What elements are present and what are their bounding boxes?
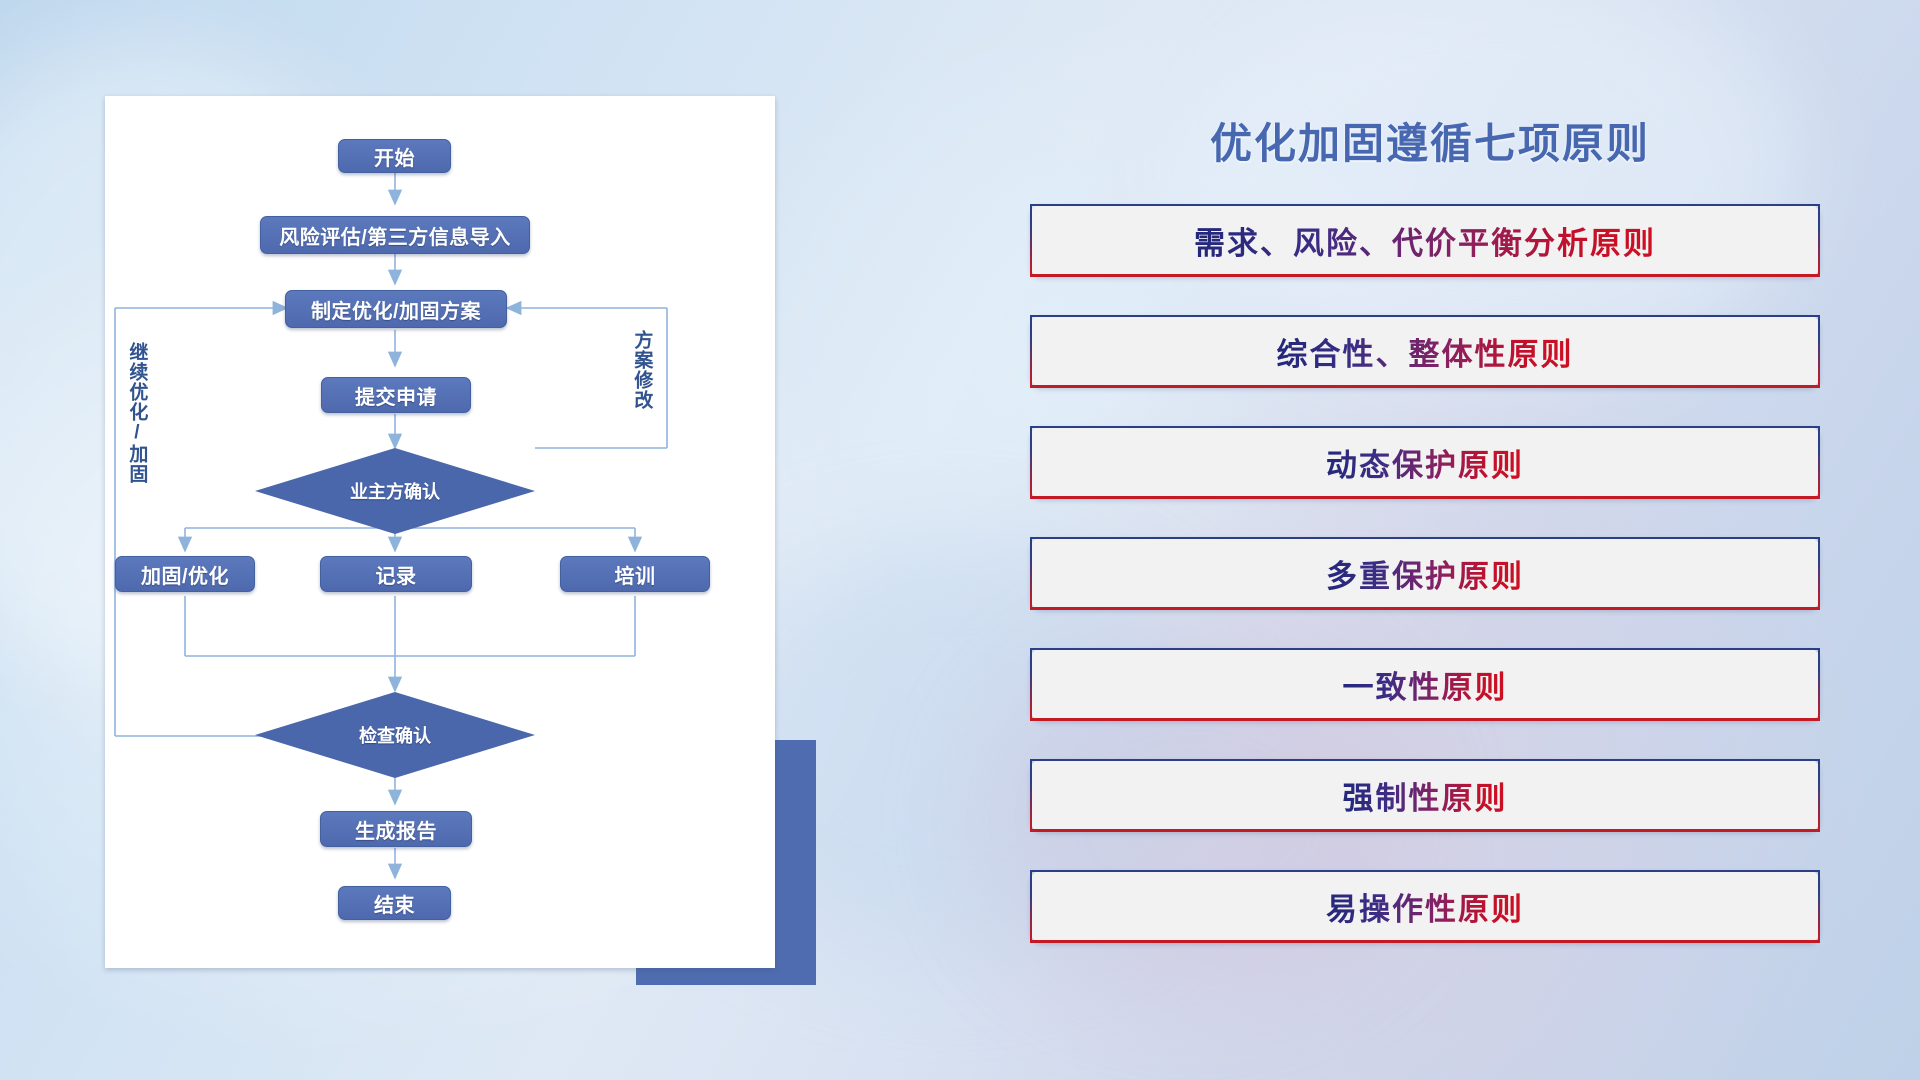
flow-node-submit-application[interactable]: 提交申请 [321, 377, 471, 413]
principle-card[interactable]: 易操作性原则 [1030, 870, 1820, 943]
principle-card[interactable]: 需求、风险、代价平衡分析原则 [1030, 204, 1820, 277]
principle-label: 综合性、整体性原则 [1277, 329, 1574, 374]
principle-card[interactable]: 综合性、整体性原则 [1030, 315, 1820, 388]
principles-panel: 优化加固遵循七项原则 需求、风险、代价平衡分析原则 综合性、整体性原则 动态保护… [1010, 96, 1830, 996]
flow-node-label: 加固/优化 [141, 560, 229, 589]
flow-node-label: 开始 [374, 142, 415, 171]
principle-label: 动态保护原则 [1326, 440, 1524, 485]
flow-node-label: 记录 [376, 560, 417, 589]
flow-node-start[interactable]: 开始 [338, 139, 451, 173]
principle-card[interactable]: 强制性原则 [1030, 759, 1820, 832]
flow-node-label: 检查确认 [359, 722, 431, 748]
principle-label: 强制性原则 [1343, 773, 1508, 818]
flow-node-generate-report[interactable]: 生成报告 [320, 811, 472, 847]
principles-title: 优化加固遵循七项原则 [1150, 110, 1710, 171]
flow-node-label: 结束 [374, 889, 415, 918]
flow-node-record[interactable]: 记录 [320, 556, 472, 592]
flow-edge-label-continue-optimize: 继续优化/加固 [127, 342, 146, 484]
flow-node-label: 提交申请 [355, 381, 437, 410]
principle-card[interactable]: 一致性原则 [1030, 648, 1820, 721]
flow-node-end[interactable]: 结束 [338, 886, 451, 920]
principle-label: 需求、风险、代价平衡分析原则 [1194, 218, 1656, 263]
principle-label: 多重保护原则 [1326, 551, 1524, 596]
flowchart-card: 开始 风险评估/第三方信息导入 制定优化/加固方案 提交申请 业主方确认 加固/… [105, 96, 775, 968]
flow-node-label: 制定优化/加固方案 [311, 295, 481, 324]
flow-node-reinforce[interactable]: 加固/优化 [115, 556, 255, 592]
principle-label: 一致性原则 [1343, 662, 1508, 707]
flow-node-label: 风险评估/第三方信息导入 [279, 221, 511, 250]
flow-node-risk-assessment[interactable]: 风险评估/第三方信息导入 [260, 216, 530, 254]
flow-node-label: 生成报告 [355, 815, 437, 844]
principles-list: 需求、风险、代价平衡分析原则 综合性、整体性原则 动态保护原则 多重保护原则 一… [1030, 204, 1820, 981]
principle-label: 易操作性原则 [1326, 884, 1524, 929]
principle-card[interactable]: 多重保护原则 [1030, 537, 1820, 610]
flow-node-plan[interactable]: 制定优化/加固方案 [285, 290, 507, 328]
flow-node-label: 培训 [615, 560, 656, 589]
principle-card[interactable]: 动态保护原则 [1030, 426, 1820, 499]
flow-node-training[interactable]: 培训 [560, 556, 710, 592]
flow-node-label: 业主方确认 [350, 478, 440, 504]
flow-edge-label-plan-revision: 方案修改 [632, 330, 651, 410]
